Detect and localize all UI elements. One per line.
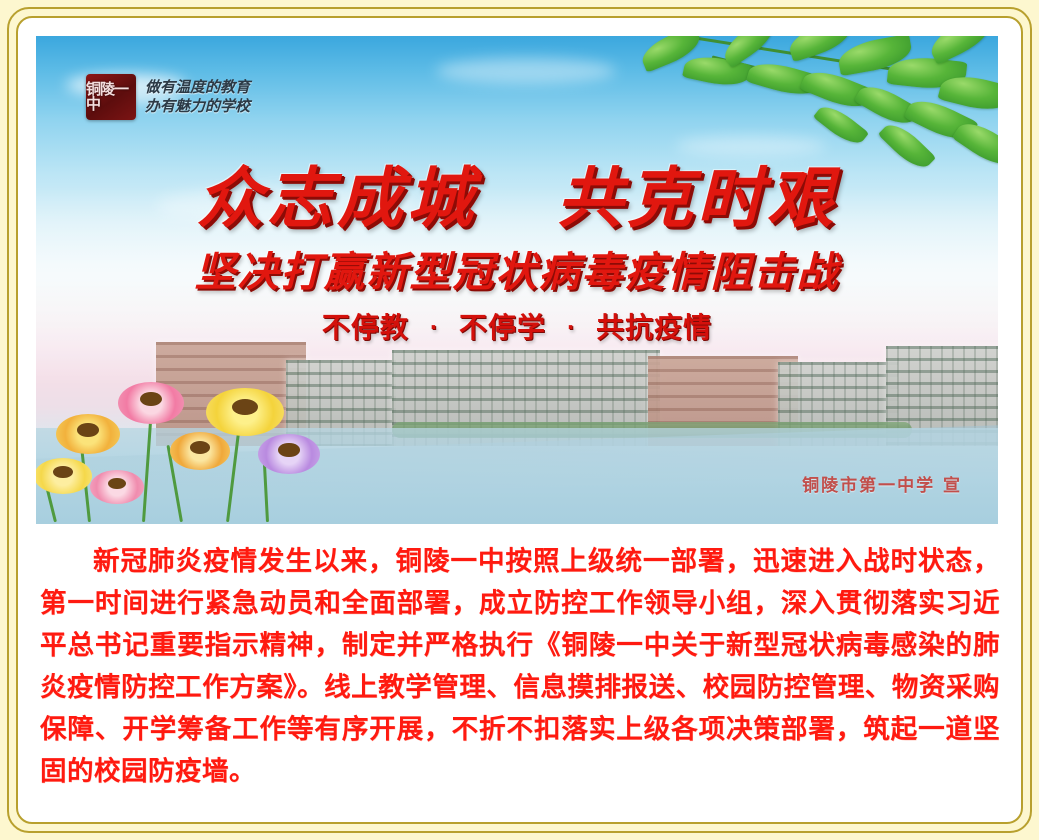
page-frame-inner: 铜陵一中 做有温度的教育 办有魅力的学校 众志成城 共克时艰 坚决打赢新型冠状病…: [7, 7, 1032, 833]
banner-credit: 铜陵市第一中学 宣: [802, 471, 962, 496]
motto-line-2: 办有魅力的学校: [145, 97, 250, 116]
article-body: 新冠肺炎疫情发生以来，铜陵一中按照上级统一部署，迅速进入战时状态，第一时间进行紧…: [40, 540, 1000, 792]
tagline-item-2: 不停学: [459, 311, 546, 344]
banner-tagline: 不停教 · 不停学 · 共抗疫情: [36, 314, 998, 342]
flower-cluster-icon: [36, 372, 360, 524]
banner-subheadline: 坚决打赢新型冠状病毒疫情阻击战: [36, 252, 998, 293]
motto-line-1: 做有温度的教育: [145, 78, 250, 97]
banner-headline: 众志成城 共克时艰: [36, 166, 998, 232]
banner-image: 铜陵一中 做有温度的教育 办有魅力的学校 众志成城 共克时艰 坚决打赢新型冠状病…: [36, 36, 998, 524]
tagline-separator-icon: ·: [567, 315, 576, 339]
article-paragraph: 新冠肺炎疫情发生以来，铜陵一中按照上级统一部署，迅速进入战时状态，第一时间进行紧…: [40, 540, 1000, 792]
school-seal-icon: 铜陵一中: [86, 74, 136, 120]
tagline-item-3: 共抗疫情: [596, 311, 712, 344]
page-sheet: 铜陵一中 做有温度的教育 办有魅力的学校 众志成城 共克时艰 坚决打赢新型冠状病…: [16, 16, 1023, 824]
tagline-separator-icon: ·: [430, 315, 439, 339]
tagline-item-1: 不停教: [322, 311, 409, 344]
page-outer-frame: 铜陵一中 做有温度的教育 办有魅力的学校 众志成城 共克时艰 坚决打赢新型冠状病…: [0, 0, 1039, 840]
seal-text: 铜陵一中: [86, 82, 136, 112]
headline-part-1: 众志成城: [197, 160, 477, 237]
headline-part-2: 共克时艰: [557, 160, 837, 237]
school-logo: 铜陵一中 做有温度的教育 办有魅力的学校: [86, 74, 250, 120]
school-motto: 做有温度的教育 办有魅力的学校: [145, 78, 250, 116]
